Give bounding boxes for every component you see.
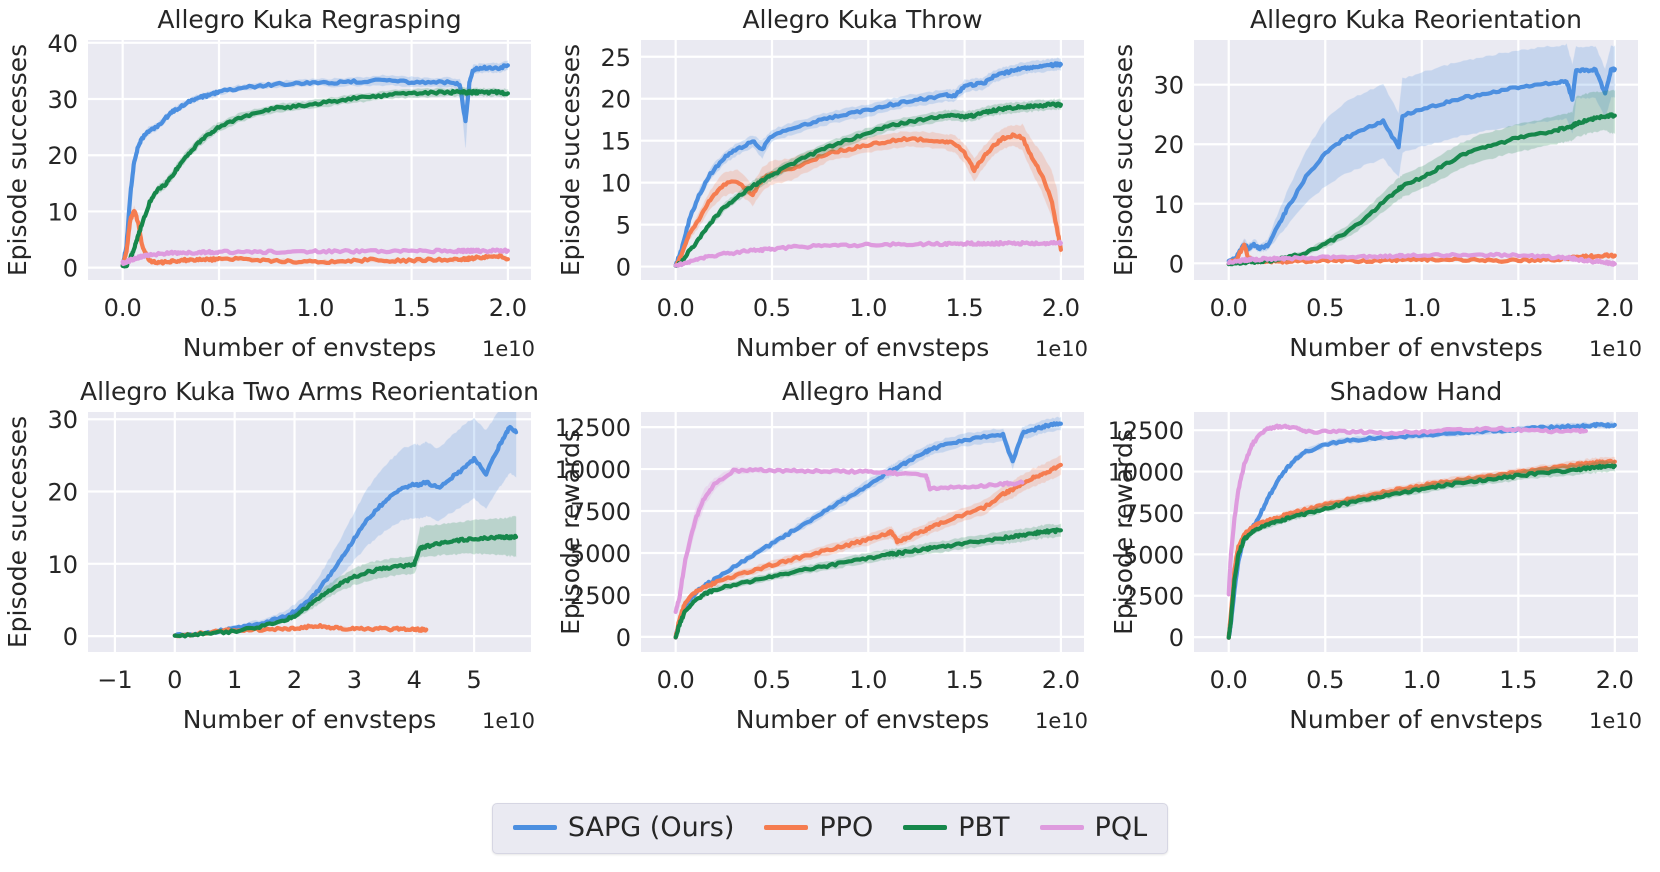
x-tick-label: −1 <box>97 666 132 694</box>
y-tick-label: 10 <box>47 551 78 579</box>
x-axis-exponent-label: 1e10 <box>1589 709 1642 733</box>
x-axis-label: Number of envsteps <box>183 333 437 362</box>
x-tick-label: 1.5 <box>945 666 983 694</box>
y-axis-label: Episode successes <box>1109 44 1138 276</box>
chart-title: Allegro Hand <box>782 377 943 406</box>
y-tick-label: 0 <box>616 624 631 652</box>
x-tick-label: 0.5 <box>1306 666 1344 694</box>
figure-root: Allegro Kuka Regrasping0102030400.00.51.… <box>0 0 1660 872</box>
y-axis-label: Episode rewards <box>556 429 585 635</box>
y-tick-label: 20 <box>1153 131 1184 159</box>
x-axis-exponent-label: 1e10 <box>1589 337 1642 361</box>
chart-allegro-kuka-reorientation: Allegro Kuka Reorientation01020300.00.51… <box>1106 0 1660 372</box>
legend-entry-sapg-ours[interactable]: SAPG (Ours) <box>513 814 735 841</box>
x-tick-label: 1.5 <box>945 294 983 322</box>
x-tick-label: 1.0 <box>849 666 887 694</box>
x-tick-label: 0.0 <box>1210 294 1248 322</box>
plot-area-background <box>1194 412 1638 652</box>
x-tick-label: 2 <box>287 666 302 694</box>
y-tick-label: 10 <box>1153 191 1184 219</box>
x-tick-label: 2.0 <box>1596 294 1634 322</box>
chart-title: Allegro Kuka Regrasping <box>157 5 461 34</box>
plot-area-background <box>88 40 531 280</box>
x-axis-label: Number of envsteps <box>1289 705 1543 734</box>
chart-shadow-hand: Shadow Hand025005000750010000125000.00.5… <box>1106 372 1660 744</box>
chart-allegro-kuka-regrasping: Allegro Kuka Regrasping0102030400.00.51.… <box>0 0 553 372</box>
y-tick-label: 30 <box>47 406 78 434</box>
x-tick-label: 5 <box>466 666 481 694</box>
panel-allegro-kuka-two-arms-reorientation: Allegro Kuka Two Arms Reorientation01020… <box>0 372 553 744</box>
y-tick-label: 20 <box>600 86 631 114</box>
x-tick-label: 0 <box>167 666 182 694</box>
chart-allegro-kuka-throw: Allegro Kuka Throw05101520250.00.51.01.5… <box>553 0 1106 372</box>
panel-allegro-kuka-regrasping: Allegro Kuka Regrasping0102030400.00.51.… <box>0 0 553 372</box>
x-tick-label: 1.5 <box>1499 666 1537 694</box>
y-tick-label: 15 <box>600 128 631 156</box>
x-tick-label: 1.5 <box>1499 294 1537 322</box>
y-axis-label: Episode rewards <box>1109 429 1138 635</box>
x-axis-label: Number of envsteps <box>183 705 437 734</box>
legend-box: SAPG (Ours)PPOPBTPQL <box>492 803 1168 854</box>
x-tick-label: 1.5 <box>392 294 430 322</box>
x-axis-exponent-label: 1e10 <box>1035 709 1088 733</box>
x-axis-label: Number of envsteps <box>736 705 990 734</box>
legend-label: PQL <box>1095 814 1148 841</box>
y-tick-label: 25 <box>600 44 631 72</box>
y-tick-label: 0 <box>616 254 631 282</box>
legend-label: SAPG (Ours) <box>568 814 735 841</box>
y-tick-label: 0 <box>63 623 78 651</box>
x-axis-label: Number of envsteps <box>1289 333 1543 362</box>
y-tick-label: 10 <box>47 198 78 226</box>
legend-label: PBT <box>958 814 1009 841</box>
legend-entry-pbt[interactable]: PBT <box>903 814 1009 841</box>
x-axis-exponent-label: 1e10 <box>1035 337 1088 361</box>
legend-entry-pql[interactable]: PQL <box>1040 814 1148 841</box>
x-tick-label: 1 <box>227 666 242 694</box>
y-tick-label: 20 <box>47 142 78 170</box>
y-tick-label: 10 <box>600 170 631 198</box>
legend: SAPG (Ours)PPOPBTPQL <box>0 803 1660 854</box>
legend-swatch-icon <box>513 825 557 830</box>
y-axis-label: Episode successes <box>556 44 585 276</box>
x-tick-label: 1.0 <box>849 294 887 322</box>
panel-shadow-hand: Shadow Hand025005000750010000125000.00.5… <box>1106 372 1660 744</box>
y-axis-label: Episode successes <box>3 44 32 276</box>
chart-allegro-hand: Allegro Hand025005000750010000125000.00.… <box>553 372 1106 744</box>
panel-allegro-kuka-throw: Allegro Kuka Throw05101520250.00.51.01.5… <box>553 0 1106 372</box>
x-tick-label: 2.0 <box>1596 666 1634 694</box>
x-tick-label: 0.5 <box>753 294 791 322</box>
x-tick-label: 0.5 <box>1306 294 1344 322</box>
x-tick-label: 0.0 <box>104 294 142 322</box>
y-tick-label: 40 <box>47 30 78 58</box>
y-tick-label: 0 <box>63 255 78 283</box>
x-axis-exponent-label: 1e10 <box>482 709 535 733</box>
chart-allegro-kuka-two-arms-reorientation: Allegro Kuka Two Arms Reorientation01020… <box>0 372 553 744</box>
legend-swatch-icon <box>903 825 947 830</box>
y-tick-label: 0 <box>1169 250 1184 278</box>
x-tick-label: 1.0 <box>1403 294 1441 322</box>
x-tick-label: 0.5 <box>753 666 791 694</box>
x-tick-label: 3 <box>347 666 362 694</box>
x-tick-label: 1.0 <box>296 294 334 322</box>
x-tick-label: 2.0 <box>1042 294 1080 322</box>
x-axis-label: Number of envsteps <box>736 333 990 362</box>
x-tick-label: 0.0 <box>657 294 695 322</box>
chart-title: Allegro Kuka Two Arms Reorientation <box>80 377 539 406</box>
x-tick-label: 4 <box>407 666 422 694</box>
panel-allegro-hand: Allegro Hand025005000750010000125000.00.… <box>553 372 1106 744</box>
x-tick-label: 0.0 <box>1210 666 1248 694</box>
x-tick-label: 1.0 <box>1403 666 1441 694</box>
x-tick-label: 0.5 <box>200 294 238 322</box>
x-tick-label: 0.0 <box>657 666 695 694</box>
chart-title: Allegro Kuka Throw <box>742 5 982 34</box>
y-tick-label: 30 <box>47 86 78 114</box>
legend-entry-ppo[interactable]: PPO <box>764 814 873 841</box>
x-tick-label: 2.0 <box>489 294 527 322</box>
legend-swatch-icon <box>1040 825 1084 830</box>
legend-label: PPO <box>819 814 873 841</box>
y-tick-label: 30 <box>1153 72 1184 100</box>
y-tick-label: 5 <box>616 212 631 240</box>
y-axis-label: Episode successes <box>3 416 32 648</box>
legend-swatch-icon <box>764 825 808 830</box>
x-axis-exponent-label: 1e10 <box>482 337 535 361</box>
x-tick-label: 2.0 <box>1042 666 1080 694</box>
chart-title: Shadow Hand <box>1330 377 1502 406</box>
panel-allegro-kuka-reorientation: Allegro Kuka Reorientation01020300.00.51… <box>1106 0 1660 372</box>
chart-title: Allegro Kuka Reorientation <box>1250 5 1582 34</box>
y-tick-label: 20 <box>47 479 78 507</box>
y-tick-label: 0 <box>1169 624 1184 652</box>
